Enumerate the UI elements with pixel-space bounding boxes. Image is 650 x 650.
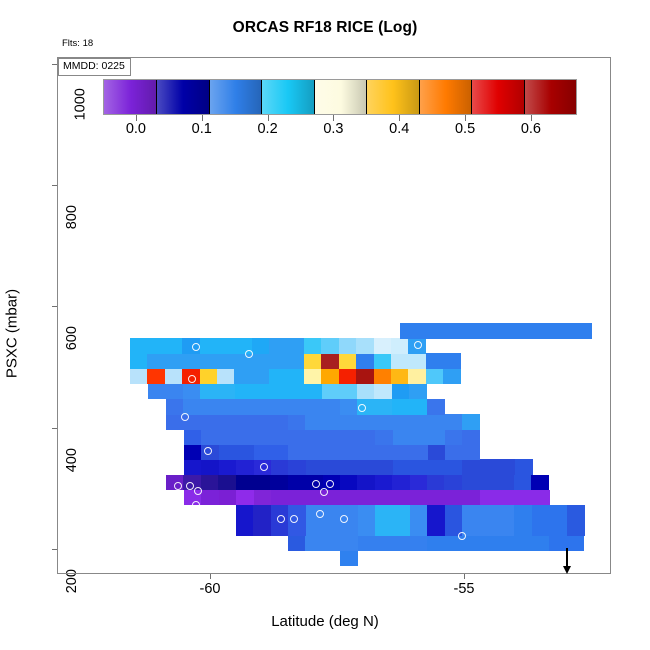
colorbar-separator	[261, 80, 262, 114]
page-title: ORCAS RF18 RICE (Log)	[0, 19, 650, 37]
colorbar-separator	[156, 80, 157, 114]
y-axis-title: PSXC (mbar)	[4, 289, 21, 378]
colorbar-segment	[366, 80, 420, 114]
colorbar-tick-label: 0.3	[303, 121, 363, 137]
chart-canvas: ORCAS RF18 RICE (Log) Flts: 18 MMDD: 022…	[0, 0, 650, 650]
colorbar-tick-label: 0.2	[238, 121, 298, 137]
colorbar[interactable]: 0.00.10.20.30.40.50.6	[103, 79, 577, 115]
colorbar-separator	[209, 80, 210, 114]
colorbar-segment	[104, 80, 158, 114]
colorbar-separator	[419, 80, 420, 114]
colorbar-segment	[314, 80, 368, 114]
colorbar-tick-label: 0.1	[172, 121, 232, 137]
colorbar-tick-label: 0.4	[369, 121, 429, 137]
x-axis-tick-label: -55	[429, 581, 499, 597]
down-arrow-marker	[562, 548, 572, 574]
colorbar-segment	[261, 80, 315, 114]
mmdd-annotation: MMDD: 0225	[58, 58, 131, 76]
colorbar-segment	[209, 80, 263, 114]
colorbar-gradient	[103, 79, 577, 115]
colorbar-segment	[471, 80, 525, 114]
colorbar-separator	[366, 80, 367, 114]
x-axis-tick-label: -60	[175, 581, 245, 597]
colorbar-segment	[419, 80, 473, 114]
colorbar-tick-label: 0.0	[106, 121, 166, 137]
colorbar-tick-label: 0.6	[501, 121, 561, 137]
colorbar-separator	[471, 80, 472, 114]
flights-annotation: Flts: 18	[62, 38, 93, 49]
colorbar-segment	[156, 80, 210, 114]
colorbar-segment	[524, 80, 577, 114]
colorbar-separator	[524, 80, 525, 114]
colorbar-tick-label: 0.5	[435, 121, 495, 137]
x-axis-title: Latitude (deg N)	[0, 613, 650, 630]
colorbar-separator	[314, 80, 315, 114]
